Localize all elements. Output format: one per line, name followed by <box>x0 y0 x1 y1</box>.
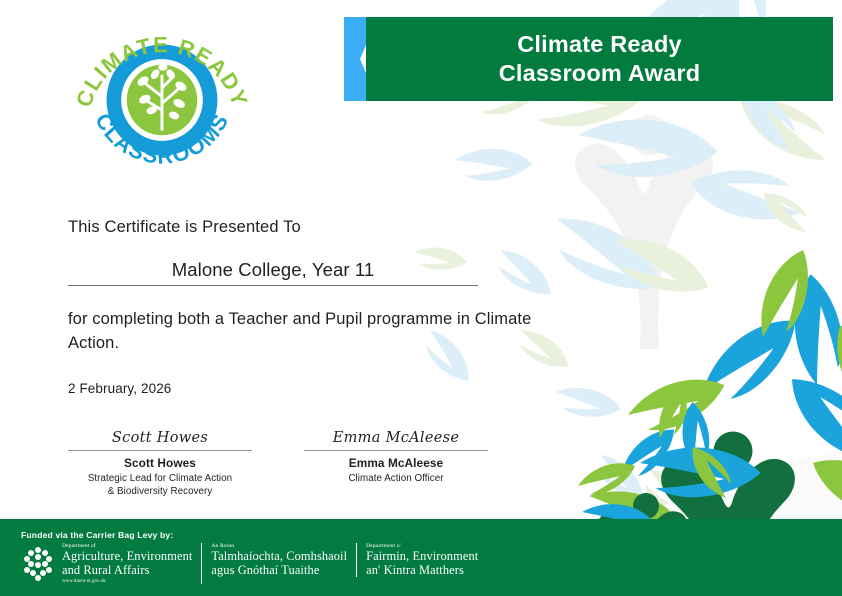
climate-ready-classrooms-logo: CLIMATE READY CLASSROOMS <box>76 14 248 186</box>
signatory-role-1-line2: & Biodiversity Recovery <box>68 486 252 499</box>
signatory-role-2: Climate Action Officer <box>304 473 488 486</box>
signatory-role-1: Strategic Lead for Climate Action & Biod… <box>68 473 252 498</box>
signature-row: Scott Howes Scott Howes Strategic Lead f… <box>68 428 488 498</box>
recipient-underline <box>68 285 478 286</box>
footer-bar: Funded via the Carrier Bag Levy by: Depa… <box>0 519 842 596</box>
funded-text: Funded via the Carrier Bag Levy by: <box>21 530 173 540</box>
signature-block-1: Scott Howes Scott Howes Strategic Lead f… <box>68 428 252 498</box>
signature-rule-2 <box>304 450 488 451</box>
daera-logo: Department of Agriculture, Environment a… <box>21 543 496 587</box>
signature-script-1: Scott Howes <box>68 428 252 448</box>
signatory-name-2: Emma McAleese <box>304 456 488 470</box>
recipient-name: Malone College, Year 11 <box>68 259 478 285</box>
award-date: 2 February, 2026 <box>68 381 628 396</box>
certificate-body: This Certificate is Presented To Malone … <box>68 218 628 396</box>
signature-block-2: Emma McAleese Emma McAleese Climate Acti… <box>304 428 488 498</box>
signatory-name-1: Scott Howes <box>68 456 252 470</box>
completion-text: for completing both a Teacher and Pupil … <box>68 308 550 355</box>
signature-rule-1 <box>68 450 252 451</box>
signatory-role-1-line1: Strategic Lead for Climate Action <box>68 473 252 486</box>
department-ulster-scots-name: Fairmin, Environment an' Kintra Matthers <box>366 550 478 577</box>
department-irish-name: Talmhaíochta, Comhshaoil agus Gnóthaí Tu… <box>211 550 347 577</box>
department-english-name: Agriculture, Environment and Rural Affai… <box>62 550 192 577</box>
department-url: www.daera-ni.gov.uk <box>62 579 192 584</box>
signatory-role-2-line1: Climate Action Officer <box>304 473 488 486</box>
department-english: Department of Agriculture, Environment a… <box>62 543 202 584</box>
recipient-field: Malone College, Year 11 <box>68 259 478 286</box>
certificate: CLIMATE READY CLASSROOMS Climate Ready C… <box>0 0 842 596</box>
award-title-line2: Classroom Award <box>477 59 701 88</box>
department-names: Department of Agriculture, Environment a… <box>62 543 496 584</box>
award-title-line1: Climate Ready <box>495 30 682 59</box>
signature-script-2: Emma McAleese <box>304 428 488 448</box>
presented-to-label: This Certificate is Presented To <box>68 218 628 237</box>
department-irish: An Roinn Talmhaíochta, Comhshaoil agus G… <box>211 543 357 577</box>
award-title: Climate Ready Classroom Award <box>344 17 833 101</box>
department-ulster-scots: Depairtment o' Fairmin, Environment an' … <box>366 543 487 577</box>
flax-flower-icon <box>21 544 55 584</box>
